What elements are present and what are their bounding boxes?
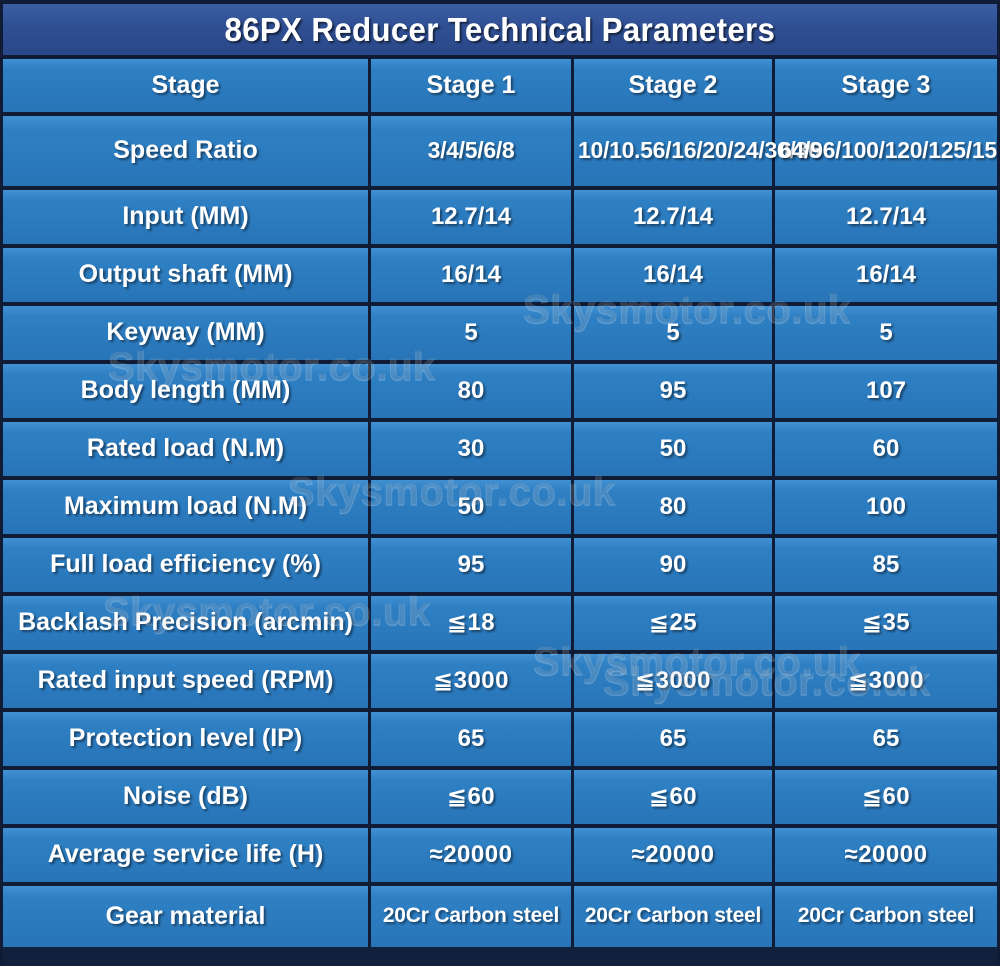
table-row: Protection level (IP) 65 65 65 — [3, 712, 997, 770]
row-value-stage-3: 5 — [775, 306, 997, 364]
row-value-stage-2: ≦60 — [574, 770, 775, 828]
row-value-stage-2: 20Cr Carbon steel — [574, 886, 775, 947]
column-header-stage-1: Stage 1 — [371, 59, 574, 116]
row-value-stage-2: 10/10.56/16/20/24/30/36 — [574, 116, 775, 190]
row-value-stage-3: 16/14 — [775, 248, 997, 306]
row-value-stage-1: 65 — [371, 712, 574, 770]
row-value-stage-2: 90 — [574, 538, 775, 596]
table-row: Rated input speed (RPM) ≦3000 ≦3000 ≦300… — [3, 654, 997, 712]
row-value-stage-2: 12.7/14 — [574, 190, 775, 248]
row-value-stage-2: ≦3000 — [574, 654, 775, 712]
row-label: Input (MM) — [3, 190, 371, 248]
row-label: Backlash Precision (arcmin) — [3, 596, 371, 654]
row-value-stage-1: 12.7/14 — [371, 190, 574, 248]
row-label: Full load efficiency (%) — [3, 538, 371, 596]
column-header-stage-2: Stage 2 — [574, 59, 775, 116]
row-value-stage-2: 80 — [574, 480, 775, 538]
table-row: Keyway (MM) 5 5 5 — [3, 306, 997, 364]
row-label: Body length (MM) — [3, 364, 371, 422]
table-row: Maximum load (N.M) 50 80 100 — [3, 480, 997, 538]
row-value-stage-1: 80 — [371, 364, 574, 422]
row-label: Average service life (H) — [3, 828, 371, 886]
row-value-stage-3: 107 — [775, 364, 997, 422]
page-title: 86PX Reducer Technical Parameters — [225, 11, 776, 49]
row-value-stage-3: 65 — [775, 712, 997, 770]
technical-parameters-table: Stage Stage 1 Stage 2 Stage 3 Speed Rati… — [3, 59, 997, 947]
row-label: Noise (dB) — [3, 770, 371, 828]
row-value-stage-1: 50 — [371, 480, 574, 538]
table-row: Average service life (H) ≈20000 ≈20000 ≈… — [3, 828, 997, 886]
row-value-stage-1: 95 — [371, 538, 574, 596]
row-value-stage-1: ≦18 — [371, 596, 574, 654]
row-value-stage-3: 12.7/14 — [775, 190, 997, 248]
row-value-stage-2: 5 — [574, 306, 775, 364]
row-value-stage-2: ≈20000 — [574, 828, 775, 886]
row-value-stage-3: 64/96/100/120/125/150/216 — [775, 116, 997, 190]
table-header-row: Stage Stage 1 Stage 2 Stage 3 — [3, 59, 997, 116]
row-value-stage-1: 3/4/5/6/8 — [371, 116, 574, 190]
row-value-stage-1: 16/14 — [371, 248, 574, 306]
row-value-stage-2: 50 — [574, 422, 775, 480]
row-value-stage-1: ≈20000 — [371, 828, 574, 886]
row-value-stage-2: 95 — [574, 364, 775, 422]
table-row: Output shaft (MM) 16/14 16/14 16/14 — [3, 248, 997, 306]
table-body: Stage Stage 1 Stage 2 Stage 3 Speed Rati… — [3, 59, 997, 947]
row-label: Output shaft (MM) — [3, 248, 371, 306]
table-row: Body length (MM) 80 95 107 — [3, 364, 997, 422]
row-value-stage-2: 65 — [574, 712, 775, 770]
table-row: Noise (dB) ≦60 ≦60 ≦60 — [3, 770, 997, 828]
page-title-bar: 86PX Reducer Technical Parameters — [3, 0, 997, 59]
row-label: Keyway (MM) — [3, 306, 371, 364]
row-label: Rated input speed (RPM) — [3, 654, 371, 712]
row-label: Gear material — [3, 886, 371, 947]
row-value-stage-3: 100 — [775, 480, 997, 538]
row-value-stage-3: ≦60 — [775, 770, 997, 828]
row-value-stage-1: ≦3000 — [371, 654, 574, 712]
row-value-stage-3: 85 — [775, 538, 997, 596]
row-value-stage-1: ≦60 — [371, 770, 574, 828]
row-value-stage-3: 60 — [775, 422, 997, 480]
row-label: Rated load (N.M) — [3, 422, 371, 480]
row-label: Protection level (IP) — [3, 712, 371, 770]
spec-sheet: Skysmotor.co.uk Skysmotor.co.uk Skysmoto… — [0, 0, 1000, 966]
row-value-stage-1: 20Cr Carbon steel — [371, 886, 574, 947]
row-value-stage-3: 20Cr Carbon steel — [775, 886, 997, 947]
row-value-stage-1: 5 — [371, 306, 574, 364]
table-row: Gear material 20Cr Carbon steel 20Cr Car… — [3, 886, 997, 947]
row-value-stage-1: 30 — [371, 422, 574, 480]
column-header-stage-3: Stage 3 — [775, 59, 997, 116]
column-header-stage: Stage — [3, 59, 371, 116]
row-value-stage-3: ≦3000 — [775, 654, 997, 712]
row-value-stage-2: 16/14 — [574, 248, 775, 306]
row-value-stage-2: ≦25 — [574, 596, 775, 654]
row-label: Speed Ratio — [3, 116, 371, 190]
row-value-stage-3: ≦35 — [775, 596, 997, 654]
table-row: Backlash Precision (arcmin) ≦18 ≦25 ≦35 — [3, 596, 997, 654]
row-value-stage-3: ≈20000 — [775, 828, 997, 886]
table-row: Full load efficiency (%) 95 90 85 — [3, 538, 997, 596]
table-row: Rated load (N.M) 30 50 60 — [3, 422, 997, 480]
row-label: Maximum load (N.M) — [3, 480, 371, 538]
table-row: Speed Ratio 3/4/5/6/8 10/10.56/16/20/24/… — [3, 116, 997, 190]
table-row: Input (MM) 12.7/14 12.7/14 12.7/14 — [3, 190, 997, 248]
